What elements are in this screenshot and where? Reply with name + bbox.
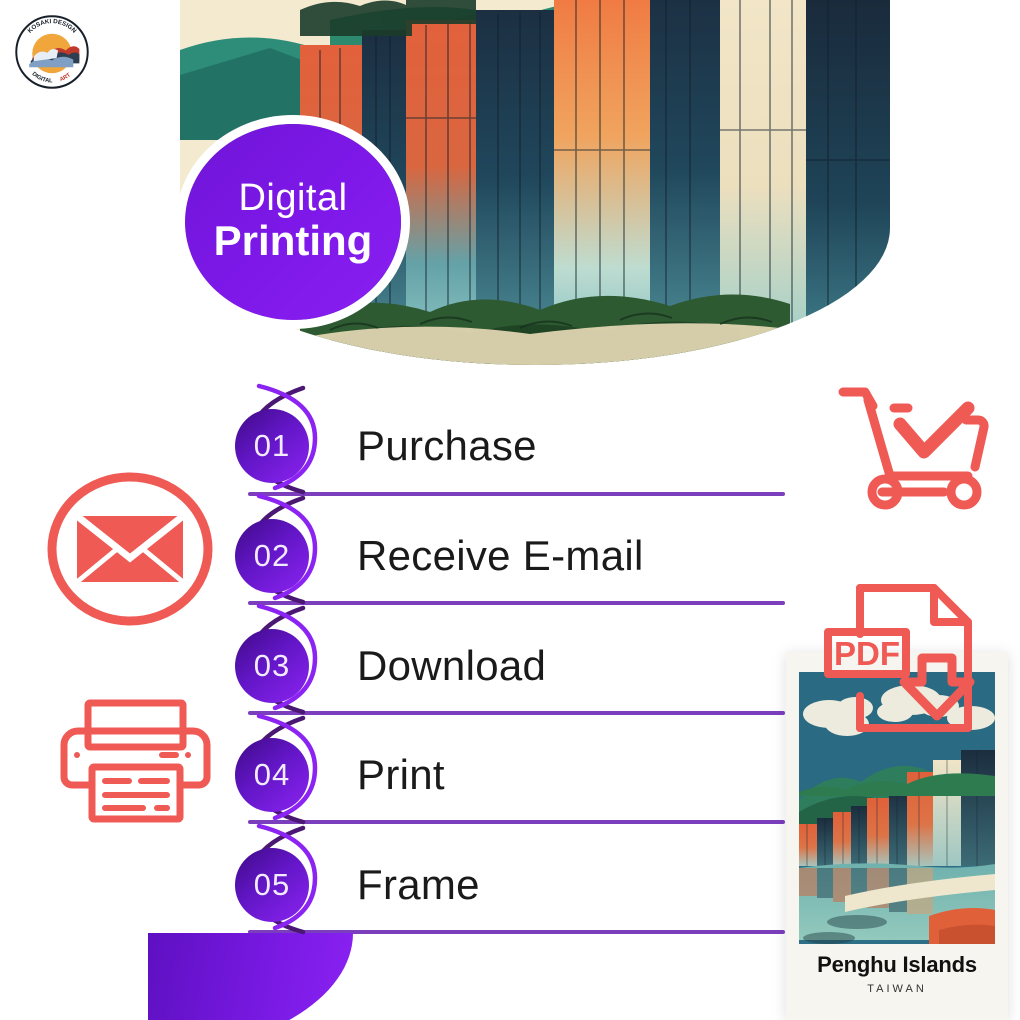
envelope-icon bbox=[45, 472, 215, 627]
step-number-badge: 04 bbox=[235, 738, 309, 812]
step-divider bbox=[248, 601, 785, 605]
step-divider bbox=[248, 820, 785, 824]
step-divider bbox=[248, 711, 785, 715]
poster-title: Penghu Islands bbox=[786, 952, 1008, 978]
step-item-2[interactable]: 02 Receive E-mail bbox=[235, 508, 795, 604]
step-label: Purchase bbox=[357, 422, 537, 470]
step-number-badge: 03 bbox=[235, 629, 309, 703]
poster-caption: Penghu Islands TAIWAN bbox=[786, 952, 1008, 995]
step-number-badge: 02 bbox=[235, 519, 309, 593]
poster-subtitle: TAIWAN bbox=[786, 983, 1008, 995]
step-label: Download bbox=[357, 642, 546, 690]
step-label: Receive E-mail bbox=[357, 532, 644, 580]
brand-logo: KOSAKI DESIGN DIGITAL ART bbox=[14, 14, 90, 90]
digital-printing-badge: Digital Printing bbox=[185, 124, 401, 320]
infographic-canvas: KOSAKI DESIGN DIGITAL ART Digital Printi… bbox=[0, 0, 1020, 1020]
badge-line-2: Printing bbox=[214, 217, 373, 265]
pdf-download-icon: PDF bbox=[818, 580, 1008, 740]
step-number-badge: 05 bbox=[235, 848, 309, 922]
step-label: Print bbox=[357, 751, 445, 799]
step-divider bbox=[248, 492, 785, 496]
step-item-5[interactable]: 05 Frame bbox=[235, 837, 795, 933]
badge-line-1: Digital bbox=[238, 179, 347, 217]
printer-icon bbox=[58, 695, 213, 825]
step-item-3[interactable]: 03 Download bbox=[235, 618, 795, 714]
step-number-badge: 01 bbox=[235, 409, 309, 483]
shopping-cart-check-icon bbox=[838, 380, 1003, 510]
decorative-wedge bbox=[148, 933, 353, 1020]
step-label: Frame bbox=[357, 861, 480, 909]
step-item-1[interactable]: 01 Purchase bbox=[235, 398, 795, 494]
step-item-4[interactable]: 04 Print bbox=[235, 727, 795, 823]
pdf-label: PDF bbox=[834, 635, 900, 672]
japanese-wave-logo-icon: KOSAKI DESIGN DIGITAL ART bbox=[14, 14, 90, 90]
